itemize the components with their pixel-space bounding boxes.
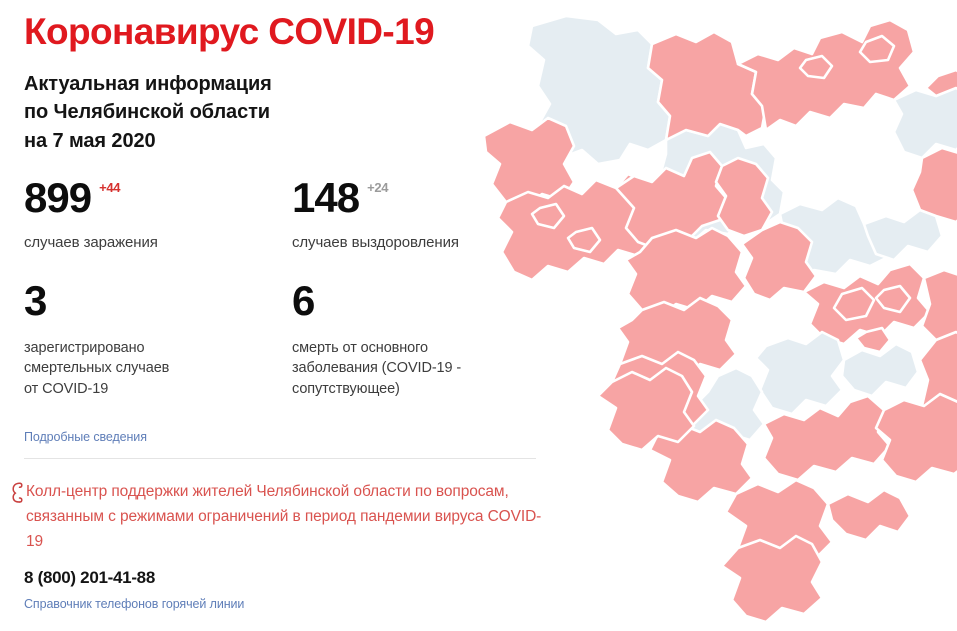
stat-recovered-number: 148 <box>292 177 359 219</box>
page-subtitle: Актуальная информация по Челябинской обл… <box>24 70 560 155</box>
page-title: Коронавирус COVID-19 <box>24 12 560 52</box>
stats-row-secondary: 3 зарегистрировано смертельных случаев о… <box>24 280 560 400</box>
stat-deaths-underlying-value-line: 6 <box>292 280 560 322</box>
stat-infected-value-line: 899 +44 <box>24 177 292 219</box>
stat-deaths-underlying-label-line-2: заболевания (COVID-19 - <box>292 358 560 379</box>
stat-infected: 899 +44 случаев заражения <box>24 177 292 254</box>
callcenter-block: Колл-центр поддержки жителей Челябинской… <box>24 479 560 554</box>
stat-deaths-underlying-label-line-3: сопутствующее) <box>292 379 560 400</box>
district-uvelsky-pale <box>756 332 844 414</box>
stat-deaths-covid-value-line: 3 <box>24 280 292 322</box>
stat-infected-delta: +44 <box>99 181 120 194</box>
subtitle-line-1: Актуальная информация <box>24 70 560 98</box>
subtitle-line-2: по Челябинской области <box>24 98 560 126</box>
district-kartaly <box>828 490 910 540</box>
details-link[interactable]: Подробные сведения <box>24 430 147 444</box>
stat-infected-label: случаев заражения <box>24 233 292 254</box>
district-varna <box>876 394 957 482</box>
stat-deaths-covid: 3 зарегистрировано смертельных случаев о… <box>24 280 292 400</box>
stat-deaths-covid-label-line-1: зарегистрировано <box>24 338 292 359</box>
district-krasnoarmeysky <box>864 210 942 260</box>
stat-deaths-underlying-label-line-1: смерть от основного <box>292 338 560 359</box>
callcenter-phone-number[interactable]: 8 (800) 201-41-88 <box>24 568 560 588</box>
district-agapovsky <box>722 536 822 622</box>
stat-infected-number: 899 <box>24 177 91 219</box>
section-divider <box>24 458 536 459</box>
stat-recovered: 148 +24 случаев выздоровления <box>292 177 560 254</box>
subtitle-line-3: на 7 мая 2020 <box>24 127 560 155</box>
infographic-page: Коронавирус COVID-19 Актуальная информац… <box>0 0 957 631</box>
stat-deaths-covid-number: 3 <box>24 280 46 322</box>
phone-handset-icon <box>8 481 26 503</box>
stats-row-primary: 899 +44 случаев заражения 148 +24 случае… <box>24 177 560 254</box>
hotline-directory-link[interactable]: Справочник телефонов горячей линии <box>24 597 244 611</box>
district-kunashak <box>894 86 957 158</box>
stat-recovered-delta: +24 <box>367 181 388 194</box>
stat-recovered-label: случаев выздоровления <box>292 233 560 254</box>
stat-deaths-underlying: 6 смерть от основного заболевания (COVID… <box>292 280 560 400</box>
stat-deaths-underlying-label: смерть от основного заболевания (COVID-1… <box>292 338 560 400</box>
stat-deaths-covid-label-line-2: смертельных случаев <box>24 358 292 379</box>
stat-deaths-covid-label-line-3: от COVID-19 <box>24 379 292 400</box>
content-column: Коронавирус COVID-19 Актуальная информац… <box>0 0 560 631</box>
stat-deaths-covid-label: зарегистрировано смертельных случаев от … <box>24 338 292 400</box>
stat-recovered-value-line: 148 +24 <box>292 177 560 219</box>
callcenter-text: Колл-центр поддержки жителей Челябинской… <box>26 479 542 554</box>
stat-deaths-underlying-number: 6 <box>292 280 314 322</box>
